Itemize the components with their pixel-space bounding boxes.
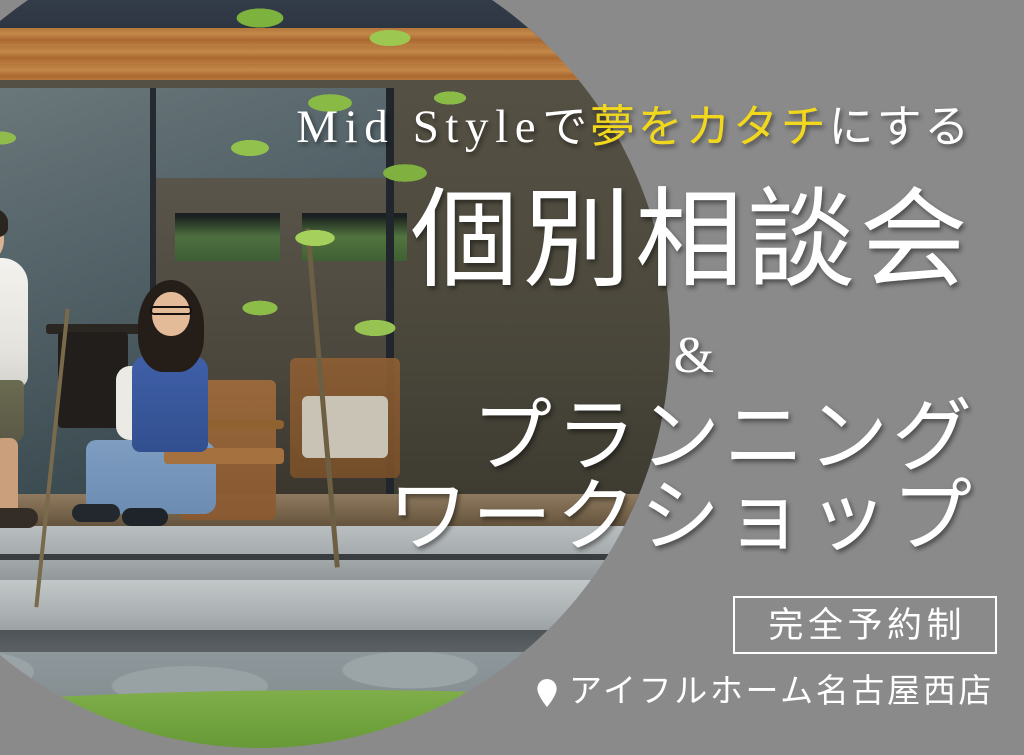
banner-copy: Mid Styleで夢をカタチにする 個別相談会 & プランニング ワークショッ… xyxy=(0,0,1024,755)
status-badge: 完全予約制 xyxy=(733,596,997,654)
map-pin-icon xyxy=(536,679,558,707)
subtitle-line-2: ワークショップ xyxy=(388,478,976,558)
event-banner: Mid Styleで夢をカタチにする 個別相談会 & プランニング ワークショッ… xyxy=(0,0,1024,755)
catchphrase-connector: で xyxy=(542,102,590,152)
catchphrase-highlight: 夢をカタチ xyxy=(590,102,829,152)
venue-line: アイフルホーム名古屋西店 xyxy=(536,676,994,709)
ampersand-separator: & xyxy=(674,330,714,382)
catchphrase-latin: Mid Style xyxy=(296,101,542,153)
status-badge-label: 完全予約制 xyxy=(764,608,966,643)
catchphrase-line: Mid Styleで夢をカタチにする xyxy=(296,104,972,151)
venue-name: アイフルホーム名古屋西店 xyxy=(566,676,994,709)
catchphrase-tail: にする xyxy=(828,102,972,152)
page-title: 個別相談会 xyxy=(410,188,972,296)
subtitle-line-1: プランニング xyxy=(472,398,976,478)
